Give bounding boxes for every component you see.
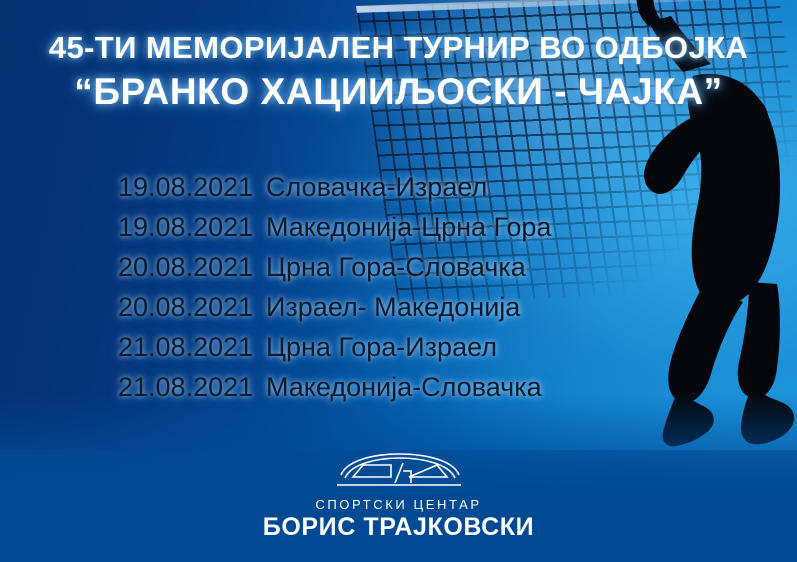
- net-top-tape: [356, 0, 779, 13]
- match-teams: Македонија-Црна Гора: [266, 212, 551, 243]
- match-teams: Словачка-Израел: [266, 172, 487, 203]
- arena-dome-icon: [333, 453, 465, 495]
- match-date: 19.08.2021: [118, 172, 266, 203]
- title-line-1: 45-ТИ МЕМОРИЈАЛЕН ТУРНИР ВО ОДБОЈКА: [0, 32, 797, 65]
- logo-name: БОРИС ТРАЈКОВСКИ: [0, 513, 797, 542]
- match-date: 19.08.2021: [118, 212, 266, 243]
- title-line-2: “БРАНКО ХАЦИИЉОСКИ - ЧАЈКА”: [0, 73, 797, 112]
- schedule-row: 19.08.2021 Словачка-Израел: [118, 172, 551, 203]
- schedule-row: 21.08.2021 Македонија-Словачка: [118, 372, 551, 403]
- match-teams: Црна Гора-Израел: [266, 332, 497, 363]
- match-teams: Израел- Македонија: [266, 292, 520, 323]
- match-date: 20.08.2021: [118, 292, 266, 323]
- match-schedule: 19.08.2021 Словачка-Израел 19.08.2021 Ма…: [118, 172, 551, 412]
- match-date: 21.08.2021: [118, 372, 266, 403]
- schedule-row: 20.08.2021 Израел- Македонија: [118, 292, 551, 323]
- schedule-row: 21.08.2021 Црна Гора-Израел: [118, 332, 551, 363]
- poster-title: 45-ТИ МЕМОРИЈАЛЕН ТУРНИР ВО ОДБОЈКА “БРА…: [0, 32, 797, 111]
- match-teams: Црна Гора-Словачка: [266, 252, 526, 283]
- logo-subtitle: СПОРТСКИ ЦЕНТАР: [0, 498, 797, 512]
- match-date: 21.08.2021: [118, 332, 266, 363]
- match-date: 20.08.2021: [118, 252, 266, 283]
- venue-logo: СПОРТСКИ ЦЕНТАР БОРИС ТРАЈКОВСКИ: [0, 453, 797, 542]
- schedule-row: 20.08.2021 Црна Гора-Словачка: [118, 252, 551, 283]
- schedule-row: 19.08.2021 Македонија-Црна Гора: [118, 212, 551, 243]
- tournament-poster: 45-ТИ МЕМОРИЈАЛЕН ТУРНИР ВО ОДБОЈКА “БРА…: [0, 0, 797, 562]
- match-teams: Македонија-Словачка: [266, 372, 542, 403]
